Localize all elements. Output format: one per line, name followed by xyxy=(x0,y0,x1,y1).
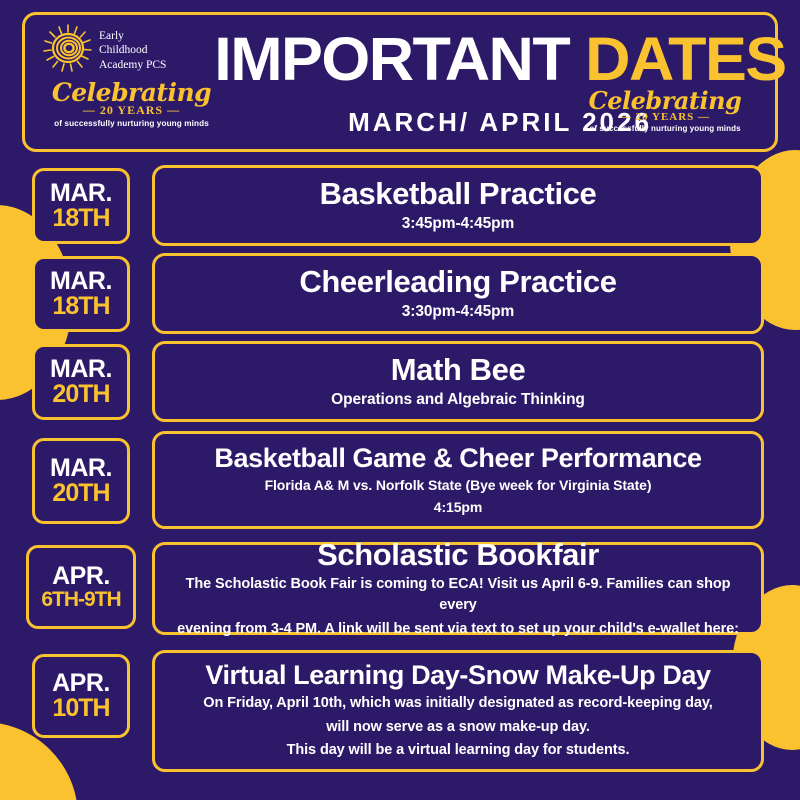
event-title-5: Virtual Learning Day-Snow Make-Up Day xyxy=(205,661,710,690)
date-day-5: 10TH xyxy=(52,696,109,722)
poster-header: Early Childhood Academy PCS Celebrating … xyxy=(22,12,778,152)
date-badge-0[interactable]: MAR. 18TH xyxy=(32,168,130,244)
event-title-0: Basketball Practice xyxy=(320,177,597,210)
date-badge-5[interactable]: APR. 10TH xyxy=(32,654,130,738)
celebrating-tagline-right: of successfully nurturing young minds xyxy=(565,124,765,133)
page-title-yellow: DATES xyxy=(585,25,786,93)
event-box-4[interactable]: Scholastic Bookfair The Scholastic Book … xyxy=(152,542,764,635)
event-line-5-2: This day will be a virtual learning day … xyxy=(287,740,630,761)
event-line-3-0: Florida A& M vs. Norfolk State (Bye week… xyxy=(265,476,652,495)
date-day-1: 18TH xyxy=(52,294,109,320)
date-badge-3[interactable]: MAR. 20TH xyxy=(32,438,130,524)
celebrating-script-left: Celebrating xyxy=(39,80,224,105)
school-name: Early Childhood Academy PCS xyxy=(99,29,166,71)
event-title-2: Math Bee xyxy=(391,353,526,386)
event-line-3-1: 4:15pm xyxy=(434,498,482,517)
date-day-3: 20TH xyxy=(52,481,109,507)
event-line-4-0: The Scholastic Book Fair is coming to EC… xyxy=(169,574,747,615)
page-title: IMPORTANT DATES xyxy=(212,29,789,90)
event-title-3: Basketball Game & Cheer Performance xyxy=(214,444,701,473)
date-day-4: 6TH-9TH xyxy=(41,589,120,610)
event-title-4: Scholastic Bookfair xyxy=(317,538,599,571)
school-name-line-1: Early xyxy=(99,29,166,43)
important-dates-poster: Early Childhood Academy PCS Celebrating … xyxy=(0,0,800,800)
date-month-1: MAR. xyxy=(50,269,112,295)
event-title-1: Cheerleading Practice xyxy=(299,265,616,298)
event-box-1[interactable]: Cheerleading Practice 3:30pm-4:45pm xyxy=(152,253,764,334)
celebrating-script-right: Celebrating xyxy=(565,89,765,113)
date-month-4: APR. xyxy=(52,564,110,590)
event-line-1-0: 3:30pm-4:45pm xyxy=(402,302,514,322)
page-title-white: IMPORTANT xyxy=(214,25,569,93)
event-box-5[interactable]: Virtual Learning Day-Snow Make-Up Day On… xyxy=(152,650,764,772)
event-box-3[interactable]: Basketball Game & Cheer Performance Flor… xyxy=(152,431,764,529)
event-line-2-0: Operations and Algebraic Thinking xyxy=(331,390,585,410)
celebrating-badge-right: Celebrating — 20 YEARS — of successfully… xyxy=(565,89,765,133)
date-month-5: APR. xyxy=(52,671,110,697)
date-month-2: MAR. xyxy=(50,357,112,383)
event-line-4-1: evening from 3-4 PM. A link will be sent… xyxy=(177,619,739,640)
date-badge-1[interactable]: MAR. 18TH xyxy=(32,256,130,332)
date-badge-2[interactable]: MAR. 20TH xyxy=(32,344,130,420)
celebrating-badge-left: Celebrating — 20 YEARS — of successfully… xyxy=(39,80,224,128)
sun-spiral-icon xyxy=(43,23,93,78)
event-box-2[interactable]: Math Bee Operations and Algebraic Thinki… xyxy=(152,341,764,422)
event-line-0-0: 3:45pm-4:45pm xyxy=(402,214,514,234)
event-line-5-1: will now serve as a snow make-up day. xyxy=(326,717,590,738)
date-day-2: 20TH xyxy=(52,382,109,408)
school-name-line-3: Academy PCS xyxy=(99,58,166,72)
school-logo-block: Early Childhood Academy PCS Celebrating … xyxy=(39,23,224,128)
date-month-3: MAR. xyxy=(50,456,112,482)
date-month-0: MAR. xyxy=(50,181,112,207)
celebrating-tagline-left: of successfully nurturing young minds xyxy=(39,119,224,128)
event-line-5-0: On Friday, April 10th, which was initial… xyxy=(203,693,712,714)
school-name-line-2: Childhood xyxy=(99,43,166,57)
date-day-0: 18TH xyxy=(52,206,109,232)
date-badge-4[interactable]: APR. 6TH-9TH xyxy=(26,545,136,629)
event-box-0[interactable]: Basketball Practice 3:45pm-4:45pm xyxy=(152,165,764,246)
